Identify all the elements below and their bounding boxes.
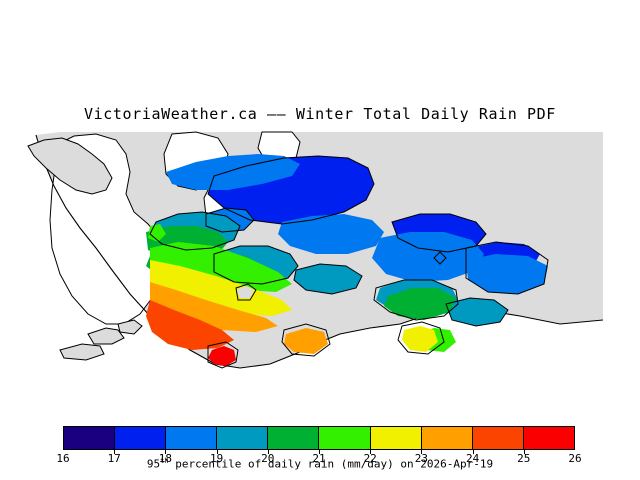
weather-map-figure: VictoriaWeather.ca —— Winter Total Daily… — [0, 0, 640, 480]
colorbar-band-16-17 — [64, 427, 115, 449]
colorbar-band-18-19 — [166, 427, 217, 449]
outlying-islets — [60, 320, 142, 360]
colorbar-band-20-21 — [268, 427, 319, 449]
map-canvas — [0, 128, 640, 408]
caption-ordinal-suffix: th — [160, 457, 168, 465]
colorbar-band-25-26 — [524, 427, 574, 449]
caption-value: 95 — [147, 458, 160, 471]
caption-text: percentile of daily rain (mm/day) on 202… — [169, 458, 494, 471]
colorbar-band-24-25 — [473, 427, 524, 449]
colorbar-band-17-18 — [115, 427, 166, 449]
colorbar-band-19-20 — [217, 427, 268, 449]
map-svg — [0, 128, 640, 408]
page-title: VictoriaWeather.ca —— Winter Total Daily… — [0, 105, 640, 123]
colorbar-band-23-24 — [422, 427, 473, 449]
colorbar-caption: 95th percentile of daily rain (mm/day) o… — [0, 457, 640, 471]
colorbar — [63, 426, 575, 450]
colorbar-band-21-22 — [319, 427, 370, 449]
colorbar-band-22-23 — [371, 427, 422, 449]
